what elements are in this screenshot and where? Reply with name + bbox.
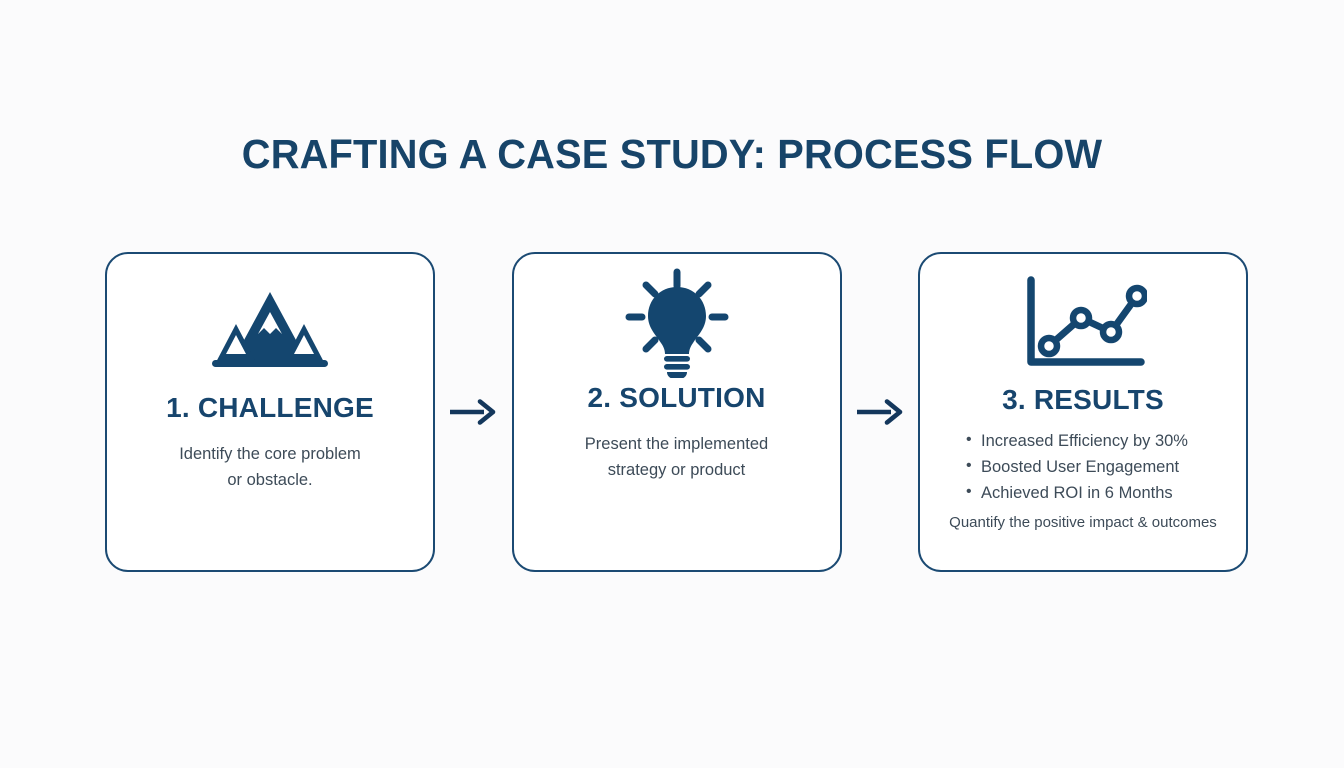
step-description: Present the implemented strategy or prod… [552,432,802,483]
lightbulb-icon [621,270,733,374]
step-description: Identify the core problem or obstacle. [145,442,395,493]
arrow-right-icon [855,398,905,426]
mountain-icon [206,280,334,384]
step-description-line: Present the implemented [552,432,802,458]
step-heading: 1. CHALLENGE [166,392,374,424]
results-bullet-list: Increased Efficiency by 30% Boosted User… [964,428,1202,506]
list-item: Boosted User Engagement [964,454,1202,480]
connector-2 [842,252,919,572]
list-item: Increased Efficiency by 30% [964,428,1202,454]
slide-canvas: CRAFTING A CASE STUDY: PROCESS FLOW [0,0,1344,768]
process-flow-row: 1. CHALLENGE Identify the core problem o… [105,252,1248,572]
step-description-line: strategy or product [552,458,802,484]
step-heading: 2. SOLUTION [588,382,766,414]
page-title: CRAFTING A CASE STUDY: PROCESS FLOW [20,132,1324,177]
step-heading: 3. RESULTS [1002,384,1164,416]
line-chart-icon [1019,272,1147,376]
step-card-results[interactable]: 3. RESULTS Increased Efficiency by 30% B… [918,252,1248,572]
arrow-right-icon [448,398,498,426]
step-description-line: Identify the core problem [145,442,395,468]
step-card-solution[interactable]: 2. SOLUTION Present the implemented stra… [512,252,842,572]
step-description-line: or obstacle. [145,468,395,494]
connector-1 [435,252,512,572]
step-card-challenge[interactable]: 1. CHALLENGE Identify the core problem o… [105,252,435,572]
list-item: Achieved ROI in 6 Months [964,480,1202,506]
results-caption: Quantify the positive impact & outcomes [949,513,1217,533]
